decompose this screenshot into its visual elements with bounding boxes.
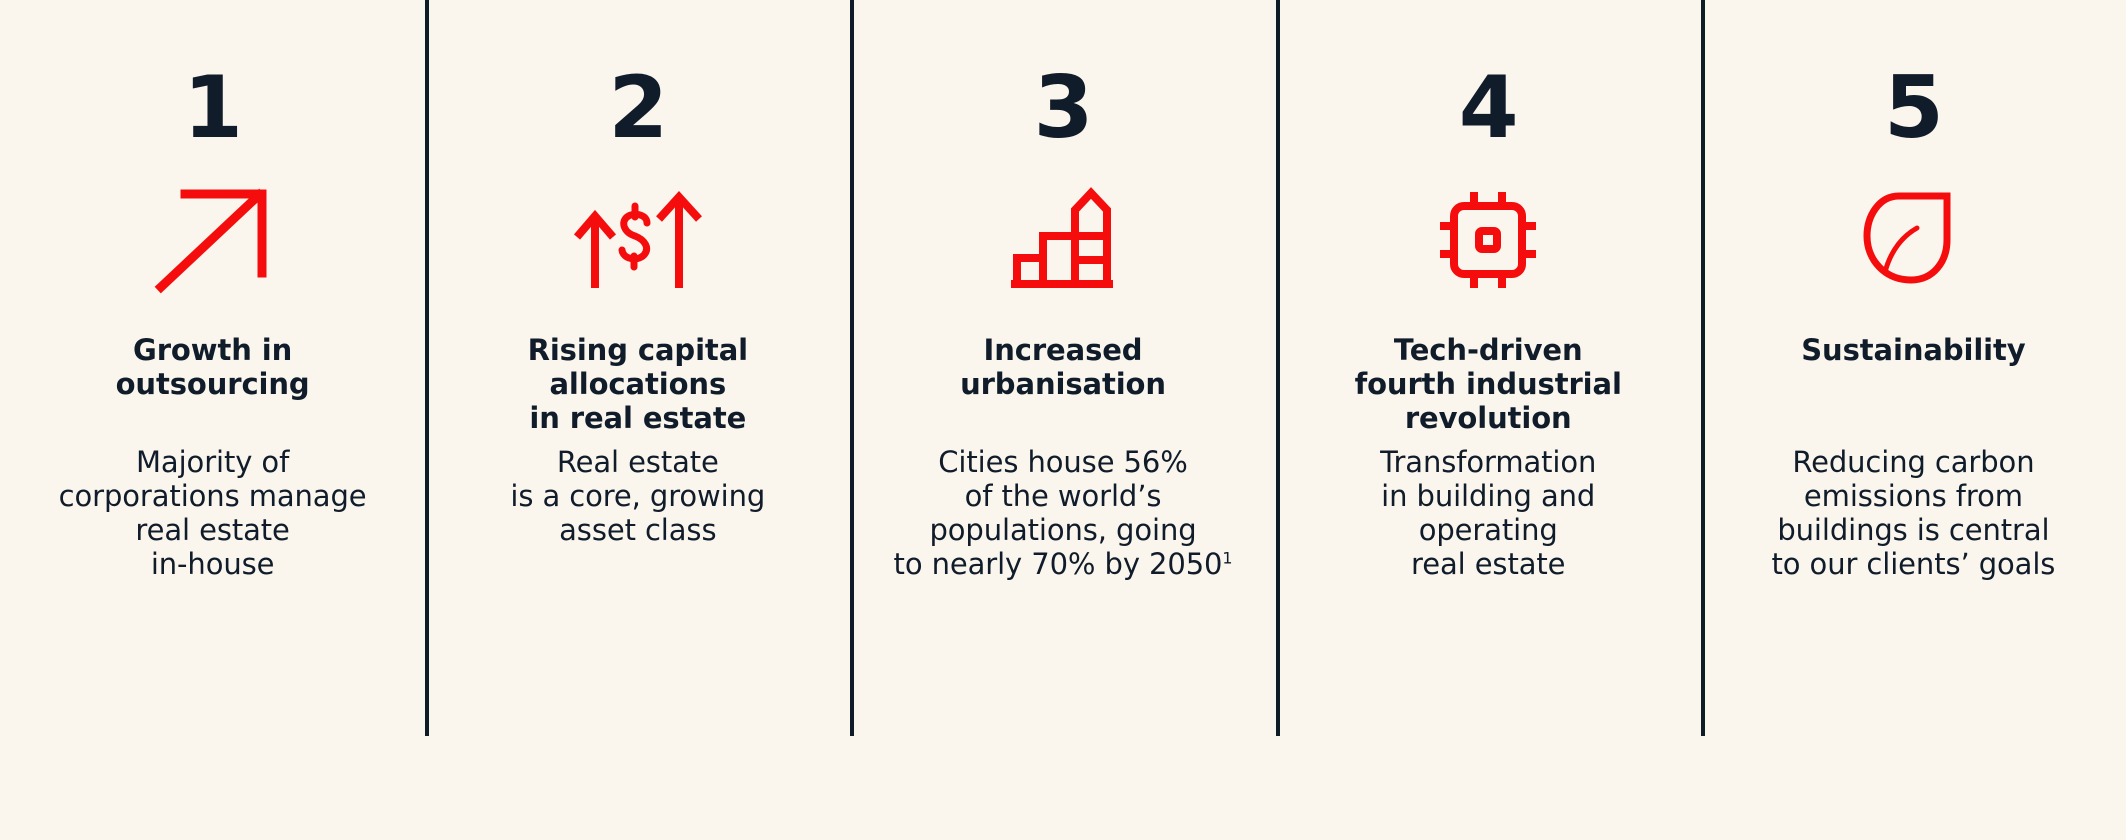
city-buildings-icon	[1011, 176, 1115, 304]
trend-column-4: 4	[1276, 0, 1701, 840]
trend-heading-slot-1: Growth inoutsourcing	[0, 304, 425, 420]
rising-capital-dollar-arrows-icon	[573, 176, 703, 304]
trend-body-1: Majority ofcorporations managereal estat…	[59, 446, 367, 582]
trend-body-slot-2: Real estateis a core, growingasset class	[425, 420, 850, 548]
trend-body-slot-3: Cities house 56%of the world’spopulation…	[850, 420, 1275, 582]
trend-heading-5: Sustainability	[1801, 334, 2025, 368]
trend-heading-slot-5: Sustainability	[1701, 304, 2126, 420]
trend-column-1: 1 Growth inoutsourcing Majority ofcorpor…	[0, 0, 425, 840]
up-right-arrow-icon	[153, 176, 273, 304]
trend-body-3: Cities house 56%of the world’spopulation…	[894, 446, 1233, 582]
infographic-board: 1 Growth inoutsourcing Majority ofcorpor…	[0, 0, 2126, 840]
trend-number-1: 1	[183, 62, 242, 154]
trend-number-2: 2	[608, 62, 667, 154]
trend-heading-slot-4: Tech-drivenfourth industrialrevolution	[1276, 304, 1701, 420]
trend-heading-slot-3: Increasedurbanisation	[850, 304, 1275, 420]
trend-column-3: 3 Increase	[850, 0, 1275, 840]
trend-body-4: Transformationin building andoperatingre…	[1380, 446, 1596, 582]
trend-column-2: 2 Rising capita	[425, 0, 850, 840]
trend-body-5: Reducing carbonemissions frombuildings i…	[1772, 446, 2056, 582]
trend-number-4: 4	[1459, 62, 1518, 154]
leaf-icon	[1863, 176, 1963, 304]
trend-body-3-text: Cities house 56%of the world’spopulation…	[894, 445, 1223, 581]
trend-heading-slot-2: Rising capitalallocationsin real estate	[425, 304, 850, 420]
trend-heading-1: Growth inoutsourcing	[116, 334, 310, 402]
trend-number-3: 3	[1034, 62, 1093, 154]
trend-heading-3: Increasedurbanisation	[960, 334, 1166, 402]
trend-number-5: 5	[1884, 62, 1943, 154]
footnote-marker-3: 1	[1222, 548, 1232, 567]
trend-body-slot-5: Reducing carbonemissions frombuildings i…	[1701, 420, 2126, 582]
trend-body-slot-1: Majority ofcorporations managereal estat…	[0, 420, 425, 582]
trend-body-slot-4: Transformationin building andoperatingre…	[1276, 420, 1701, 582]
trend-column-5: 5 Sustainability Reducing carbonemission…	[1701, 0, 2126, 840]
columns-container: 1 Growth inoutsourcing Majority ofcorpor…	[0, 0, 2126, 840]
trend-body-2: Real estateis a core, growingasset class	[510, 446, 765, 548]
microchip-cpu-icon	[1436, 176, 1540, 304]
